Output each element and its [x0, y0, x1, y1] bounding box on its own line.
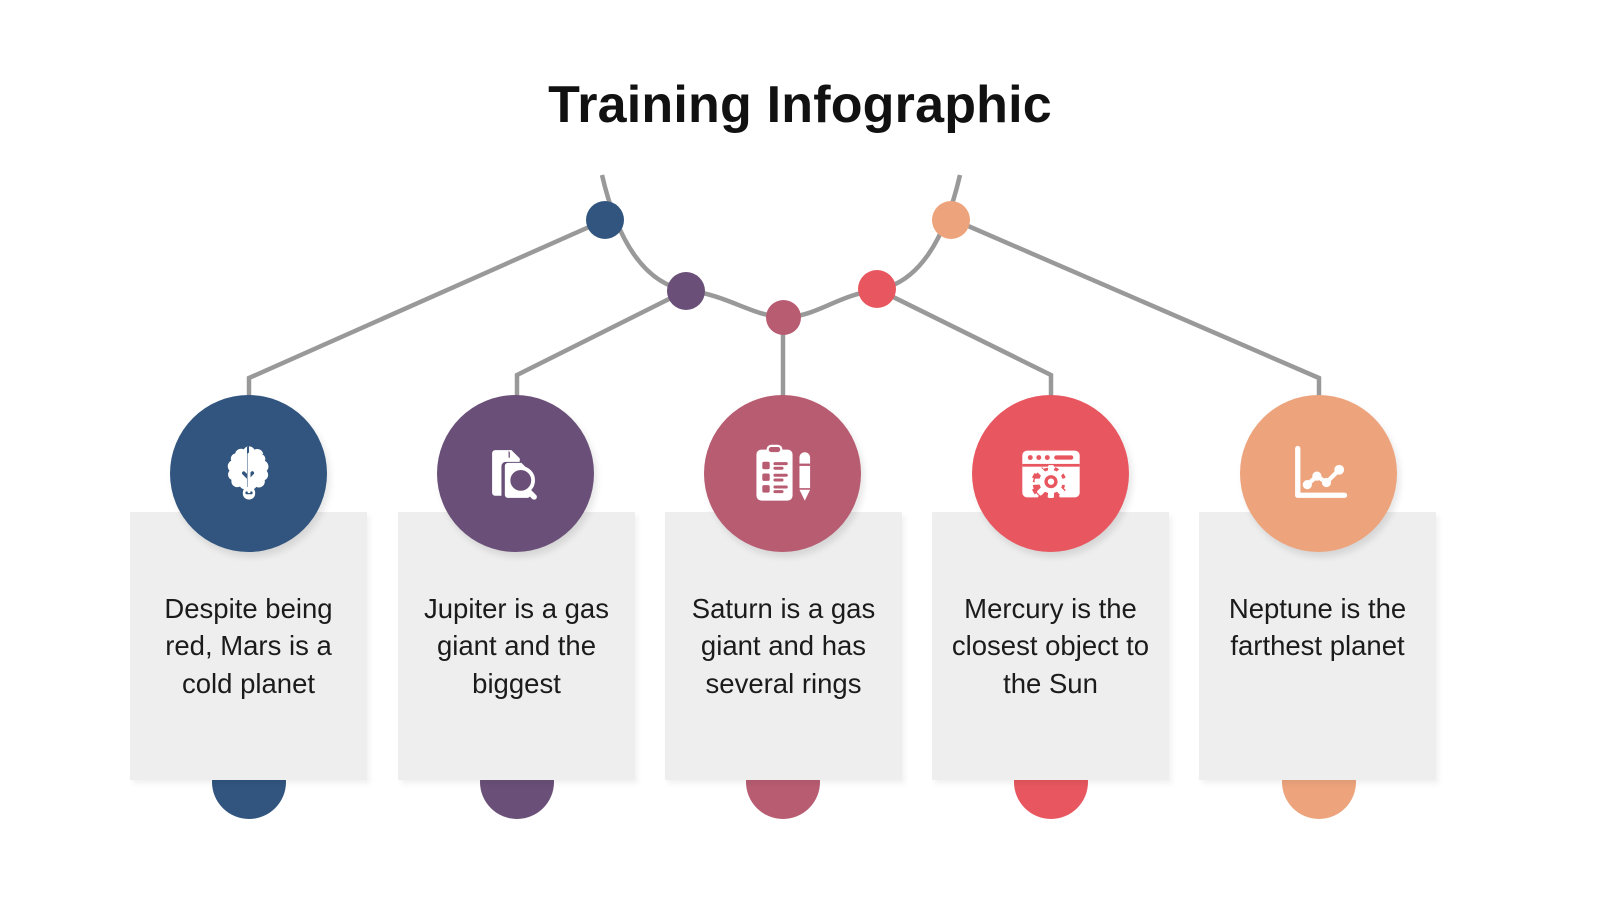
document-search-icon	[482, 440, 550, 508]
clipboard-checklist-pencil-icon	[749, 440, 817, 508]
info-card-5[interactable]: Neptune is the farthest planet	[1199, 512, 1436, 780]
infographic-canvas: Training Infographic Despite being red, …	[0, 0, 1600, 900]
connector-line-5	[952, 219, 1319, 400]
info-card-4[interactable]: Mercury is the closest object to the Sun	[932, 512, 1169, 780]
arc-node-3[interactable]	[766, 300, 801, 335]
arc-node-4[interactable]	[858, 270, 896, 308]
arc-node-2[interactable]	[667, 272, 705, 310]
line-chart-icon	[1285, 440, 1353, 508]
info-card-text-4: Mercury is the closest object to the Sun	[940, 590, 1161, 702]
info-card-2[interactable]: Jupiter is a gas giant and the biggest	[398, 512, 635, 780]
icon-circle-4[interactable]	[972, 395, 1129, 552]
connector-line-2	[517, 291, 685, 400]
arc-node-5[interactable]	[932, 201, 970, 239]
icon-circle-5[interactable]	[1240, 395, 1397, 552]
arc-node-1[interactable]	[586, 201, 624, 239]
icon-circle-1[interactable]	[170, 395, 327, 552]
arc-path	[602, 175, 960, 317]
connector-line-4	[877, 289, 1051, 400]
icon-circle-2[interactable]	[437, 395, 594, 552]
info-card-3[interactable]: Saturn is a gas giant and has several ri…	[665, 512, 902, 780]
info-card-text-2: Jupiter is a gas giant and the biggest	[406, 590, 627, 702]
info-card-1[interactable]: Despite being red, Mars is a cold planet	[130, 512, 367, 780]
connector-line-1	[249, 219, 607, 400]
info-card-text-1: Despite being red, Mars is a cold planet	[138, 590, 359, 702]
brain-icon	[215, 440, 283, 508]
page-title: Training Infographic	[0, 78, 1600, 133]
info-card-text-3: Saturn is a gas giant and has several ri…	[673, 590, 894, 702]
icon-circle-3[interactable]	[704, 395, 861, 552]
browser-gear-icon	[1017, 440, 1085, 508]
info-card-text-5: Neptune is the farthest planet	[1207, 590, 1428, 665]
